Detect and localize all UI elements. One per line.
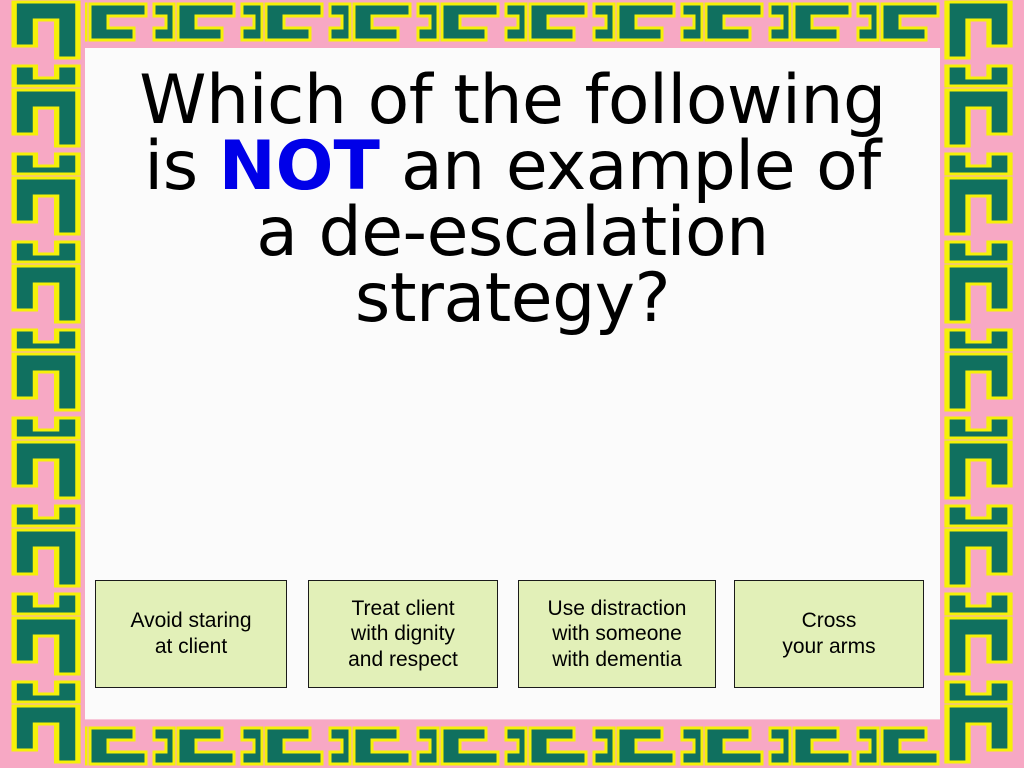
answer-option-3-label: Use distractionwith someonewith dementia [548,596,687,673]
greek-key-border-right [940,0,1024,768]
answer-options-row: Avoid staringat client Treat clientwith … [85,580,940,692]
answer-option-1-label: Avoid staringat client [130,608,251,659]
question-line-4: strategy? [95,266,930,332]
greek-key-border-top [0,0,1024,48]
greek-key-border-left [0,0,85,768]
slide-content-panel: Which of the following is NOT an example… [85,48,940,719]
answer-option-2-label: Treat clientwith dignityand respect [348,596,458,673]
answer-option-2[interactable]: Treat clientwith dignityand respect [308,580,498,688]
answer-option-1[interactable]: Avoid staringat client [95,580,287,688]
greek-key-border-bottom [0,720,1024,768]
answer-option-4[interactable]: Crossyour arms [734,580,924,688]
answer-option-3[interactable]: Use distractionwith someonewith dementia [518,580,716,688]
question-line-2-prefix: is [144,127,218,206]
answer-option-4-label: Crossyour arms [782,608,875,659]
question-line-1: Which of the following [95,68,930,134]
question-line-3: a de-escalation [95,200,930,266]
quiz-slide: Which of the following is NOT an example… [0,0,1024,768]
question-line-2: is NOT an example of [95,134,930,200]
question-title: Which of the following is NOT an example… [85,68,940,332]
